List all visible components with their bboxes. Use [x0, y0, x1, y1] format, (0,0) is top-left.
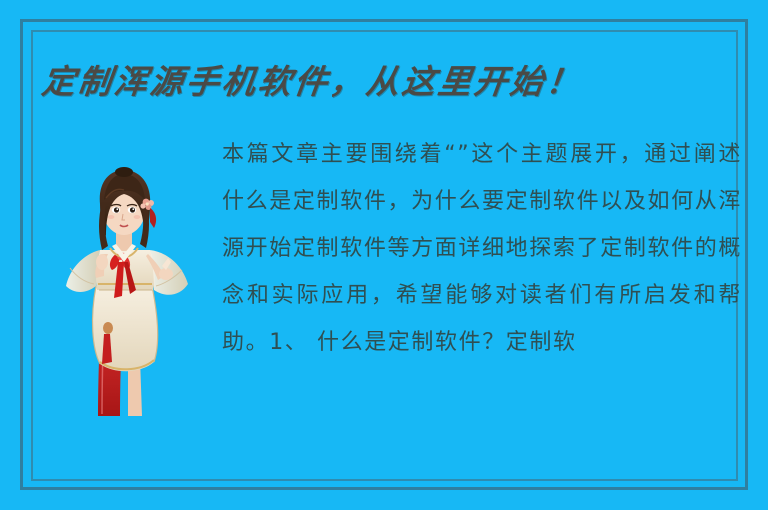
page-title: 定制浑源手机软件，从这里开始！: [39, 57, 705, 109]
poster-canvas: 定制浑源手机软件，从这里开始！: [0, 0, 768, 510]
article-paragraph: 本篇文章主要围绕着“”这个主题展开，通过阐述什么是定制软件，为什么要定制软件以及…: [222, 131, 742, 366]
anime-girl-illustration: [62, 158, 192, 416]
article-body: 本篇文章主要围绕着“”这个主题展开，通过阐述什么是定制软件，为什么要定制软件以及…: [222, 131, 742, 413]
